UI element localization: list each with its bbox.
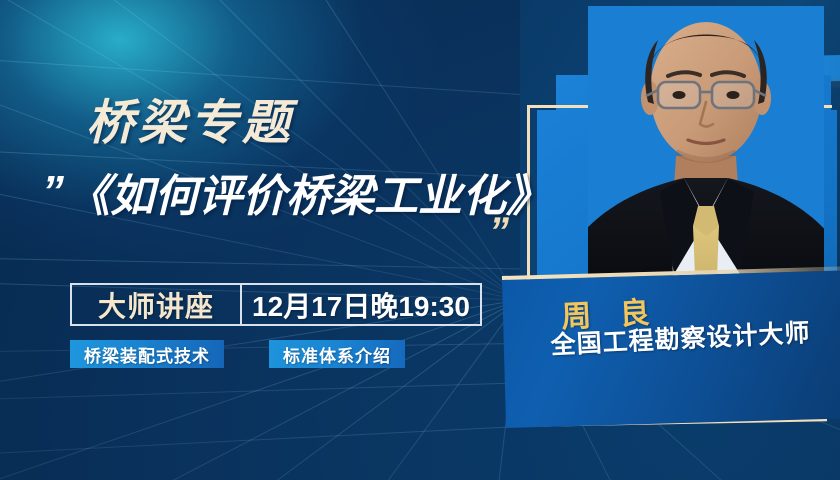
speaker-info-panel: 周 良 全国工程勘察设计大师 <box>502 270 840 428</box>
poster-canvas: 周 良 全国工程勘察设计大师 桥梁专题 ” 《如何评价桥梁工业化》 ” 大师讲座… <box>0 0 840 480</box>
lecture-label-cell: 大师讲座 <box>72 285 242 324</box>
page-title: 桥梁专题 <box>86 100 294 148</box>
topic-tag-list: 桥梁装配式技术 标准体系介绍 <box>70 340 405 368</box>
topic-tag-2: 标准体系介绍 <box>269 340 405 368</box>
page-subtitle: 《如何评价桥梁工业化》 <box>66 175 550 219</box>
topic-tag-1: 桥梁装配式技术 <box>70 340 224 368</box>
lecture-time: 12月17日晚19:30 <box>252 285 470 325</box>
lecture-info-bar: 大师讲座 12月17日晚19:30 <box>70 283 482 326</box>
lecture-time-cell: 12月17日晚19:30 <box>242 285 480 324</box>
lecture-label: 大师讲座 <box>98 285 214 325</box>
quote-open-mark: ” <box>42 170 64 214</box>
quote-close-mark: ” <box>489 212 509 252</box>
speaker-text-group: 周 良 全国工程勘察设计大师 <box>549 290 811 360</box>
